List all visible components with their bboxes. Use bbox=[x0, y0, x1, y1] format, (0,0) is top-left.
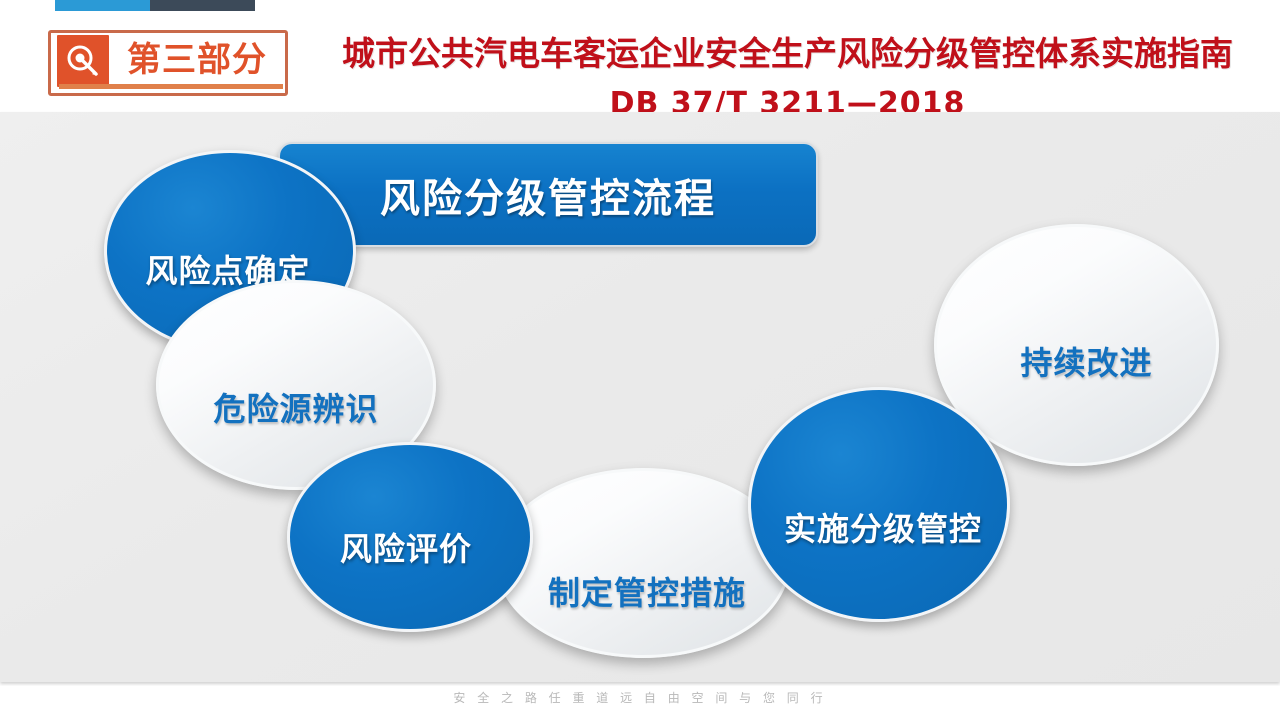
flow-node-label: 制定管控措施 bbox=[548, 568, 746, 614]
slide-canvas: 第三部分 城市公共汽电车客运企业安全生产风险分级管控体系实施指南 DB 37/T… bbox=[0, 0, 1280, 720]
section-badge-label: 第三部分 bbox=[109, 43, 285, 77]
flow-node-risk-evaluation[interactable]: 风险评价 bbox=[287, 442, 533, 632]
flow-node-label: 实施分级管控 bbox=[784, 504, 982, 550]
flow-title-label: 风险分级管控流程 bbox=[380, 166, 716, 224]
footer-text: 安 全 之 路 任 重 道 远 自 由 空 间 与 您 同 行 bbox=[453, 689, 826, 706]
slide-footer: 安 全 之 路 任 重 道 远 自 由 空 间 与 您 同 行 bbox=[0, 686, 1280, 720]
page-title: 城市公共汽电车客运企业安全生产风险分级管控体系实施指南 bbox=[300, 35, 1275, 73]
flow-node-label: 风险评价 bbox=[340, 524, 472, 570]
top-decorative-bar bbox=[55, 0, 255, 11]
magnifier-target-icon bbox=[57, 35, 109, 87]
flow-node-label: 持续改进 bbox=[1020, 338, 1152, 384]
topbar-segment-blue bbox=[55, 0, 150, 11]
diagram-area: 风险分级管控流程 风险点确定 危险源辨识 风险评价 制定管控措施 实施分级管控 … bbox=[0, 112, 1280, 682]
flow-node-control-measures[interactable]: 制定管控措施 bbox=[496, 468, 790, 658]
slide-header: 第三部分 城市公共汽电车客运企业安全生产风险分级管控体系实施指南 DB 37/T… bbox=[0, 11, 1280, 112]
section-badge-underline bbox=[59, 84, 283, 89]
flow-node-graded-control-implementation[interactable]: 实施分级管控 bbox=[748, 387, 1010, 622]
flow-title-box: 风险分级管控流程 bbox=[278, 142, 818, 247]
section-badge: 第三部分 bbox=[48, 30, 288, 96]
topbar-segment-dark bbox=[150, 0, 255, 11]
flow-node-label: 危险源辨识 bbox=[213, 384, 378, 430]
